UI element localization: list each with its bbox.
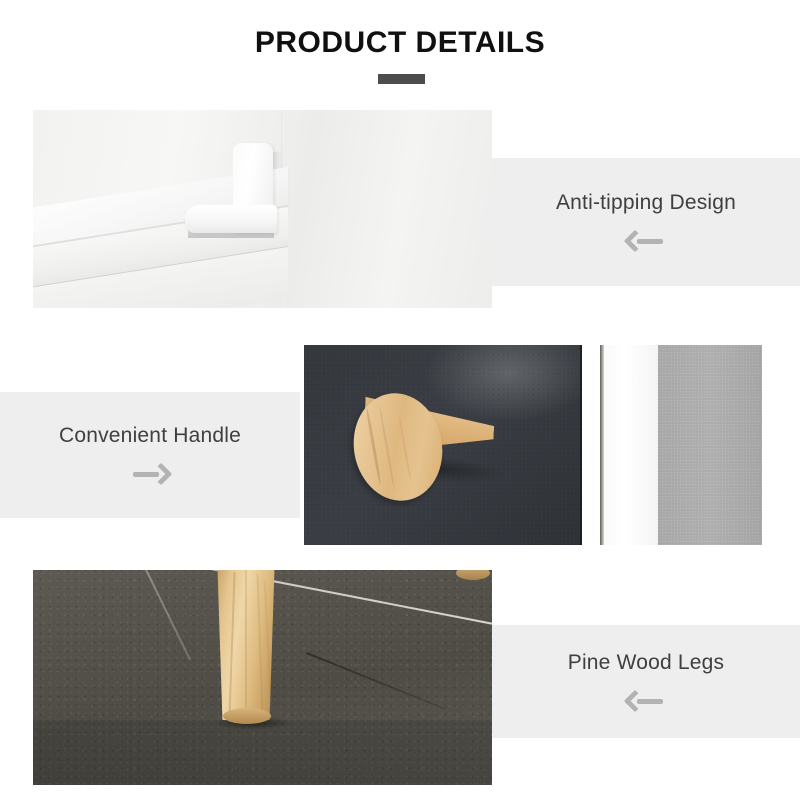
leg-foot-base <box>223 708 271 724</box>
feature-label-text: Convenient Handle <box>59 424 241 448</box>
arrow-head <box>624 689 647 712</box>
arrow-head <box>624 230 647 253</box>
arrow-left-icon <box>623 229 669 253</box>
door-edge-seam <box>580 345 582 545</box>
page-title: PRODUCT DETAILS <box>0 26 800 60</box>
pine-wood-leg-photo <box>33 570 492 785</box>
feature-label-text: Pine Wood Legs <box>568 651 725 675</box>
feature-label-text: Anti-tipping Design <box>556 191 736 215</box>
grey-wall-area <box>658 345 762 545</box>
leg-wood-grain <box>245 570 247 718</box>
feature-label-plate-anti-tipping: Anti-tipping Design <box>492 158 800 286</box>
title-underline-rule <box>378 74 425 84</box>
white-panel-strip <box>604 345 658 545</box>
arrow-right-icon <box>127 462 173 486</box>
anti-tip-bracket-base-arm <box>185 205 277 233</box>
dark-cabinet-door <box>304 345 582 545</box>
feature-label-plate-convenient-handle: Convenient Handle <box>0 392 300 518</box>
arrow-head <box>150 463 173 486</box>
wooden-knob-handle-photo <box>304 345 762 545</box>
feature-label-plate-pine-wood-legs: Pine Wood Legs <box>492 625 800 738</box>
product-details-infographic: PRODUCT DETAILS Anti-tipping Design Conv… <box>0 0 800 800</box>
arrow-left-icon <box>623 689 669 713</box>
anti-tipping-bracket-photo <box>33 110 492 308</box>
